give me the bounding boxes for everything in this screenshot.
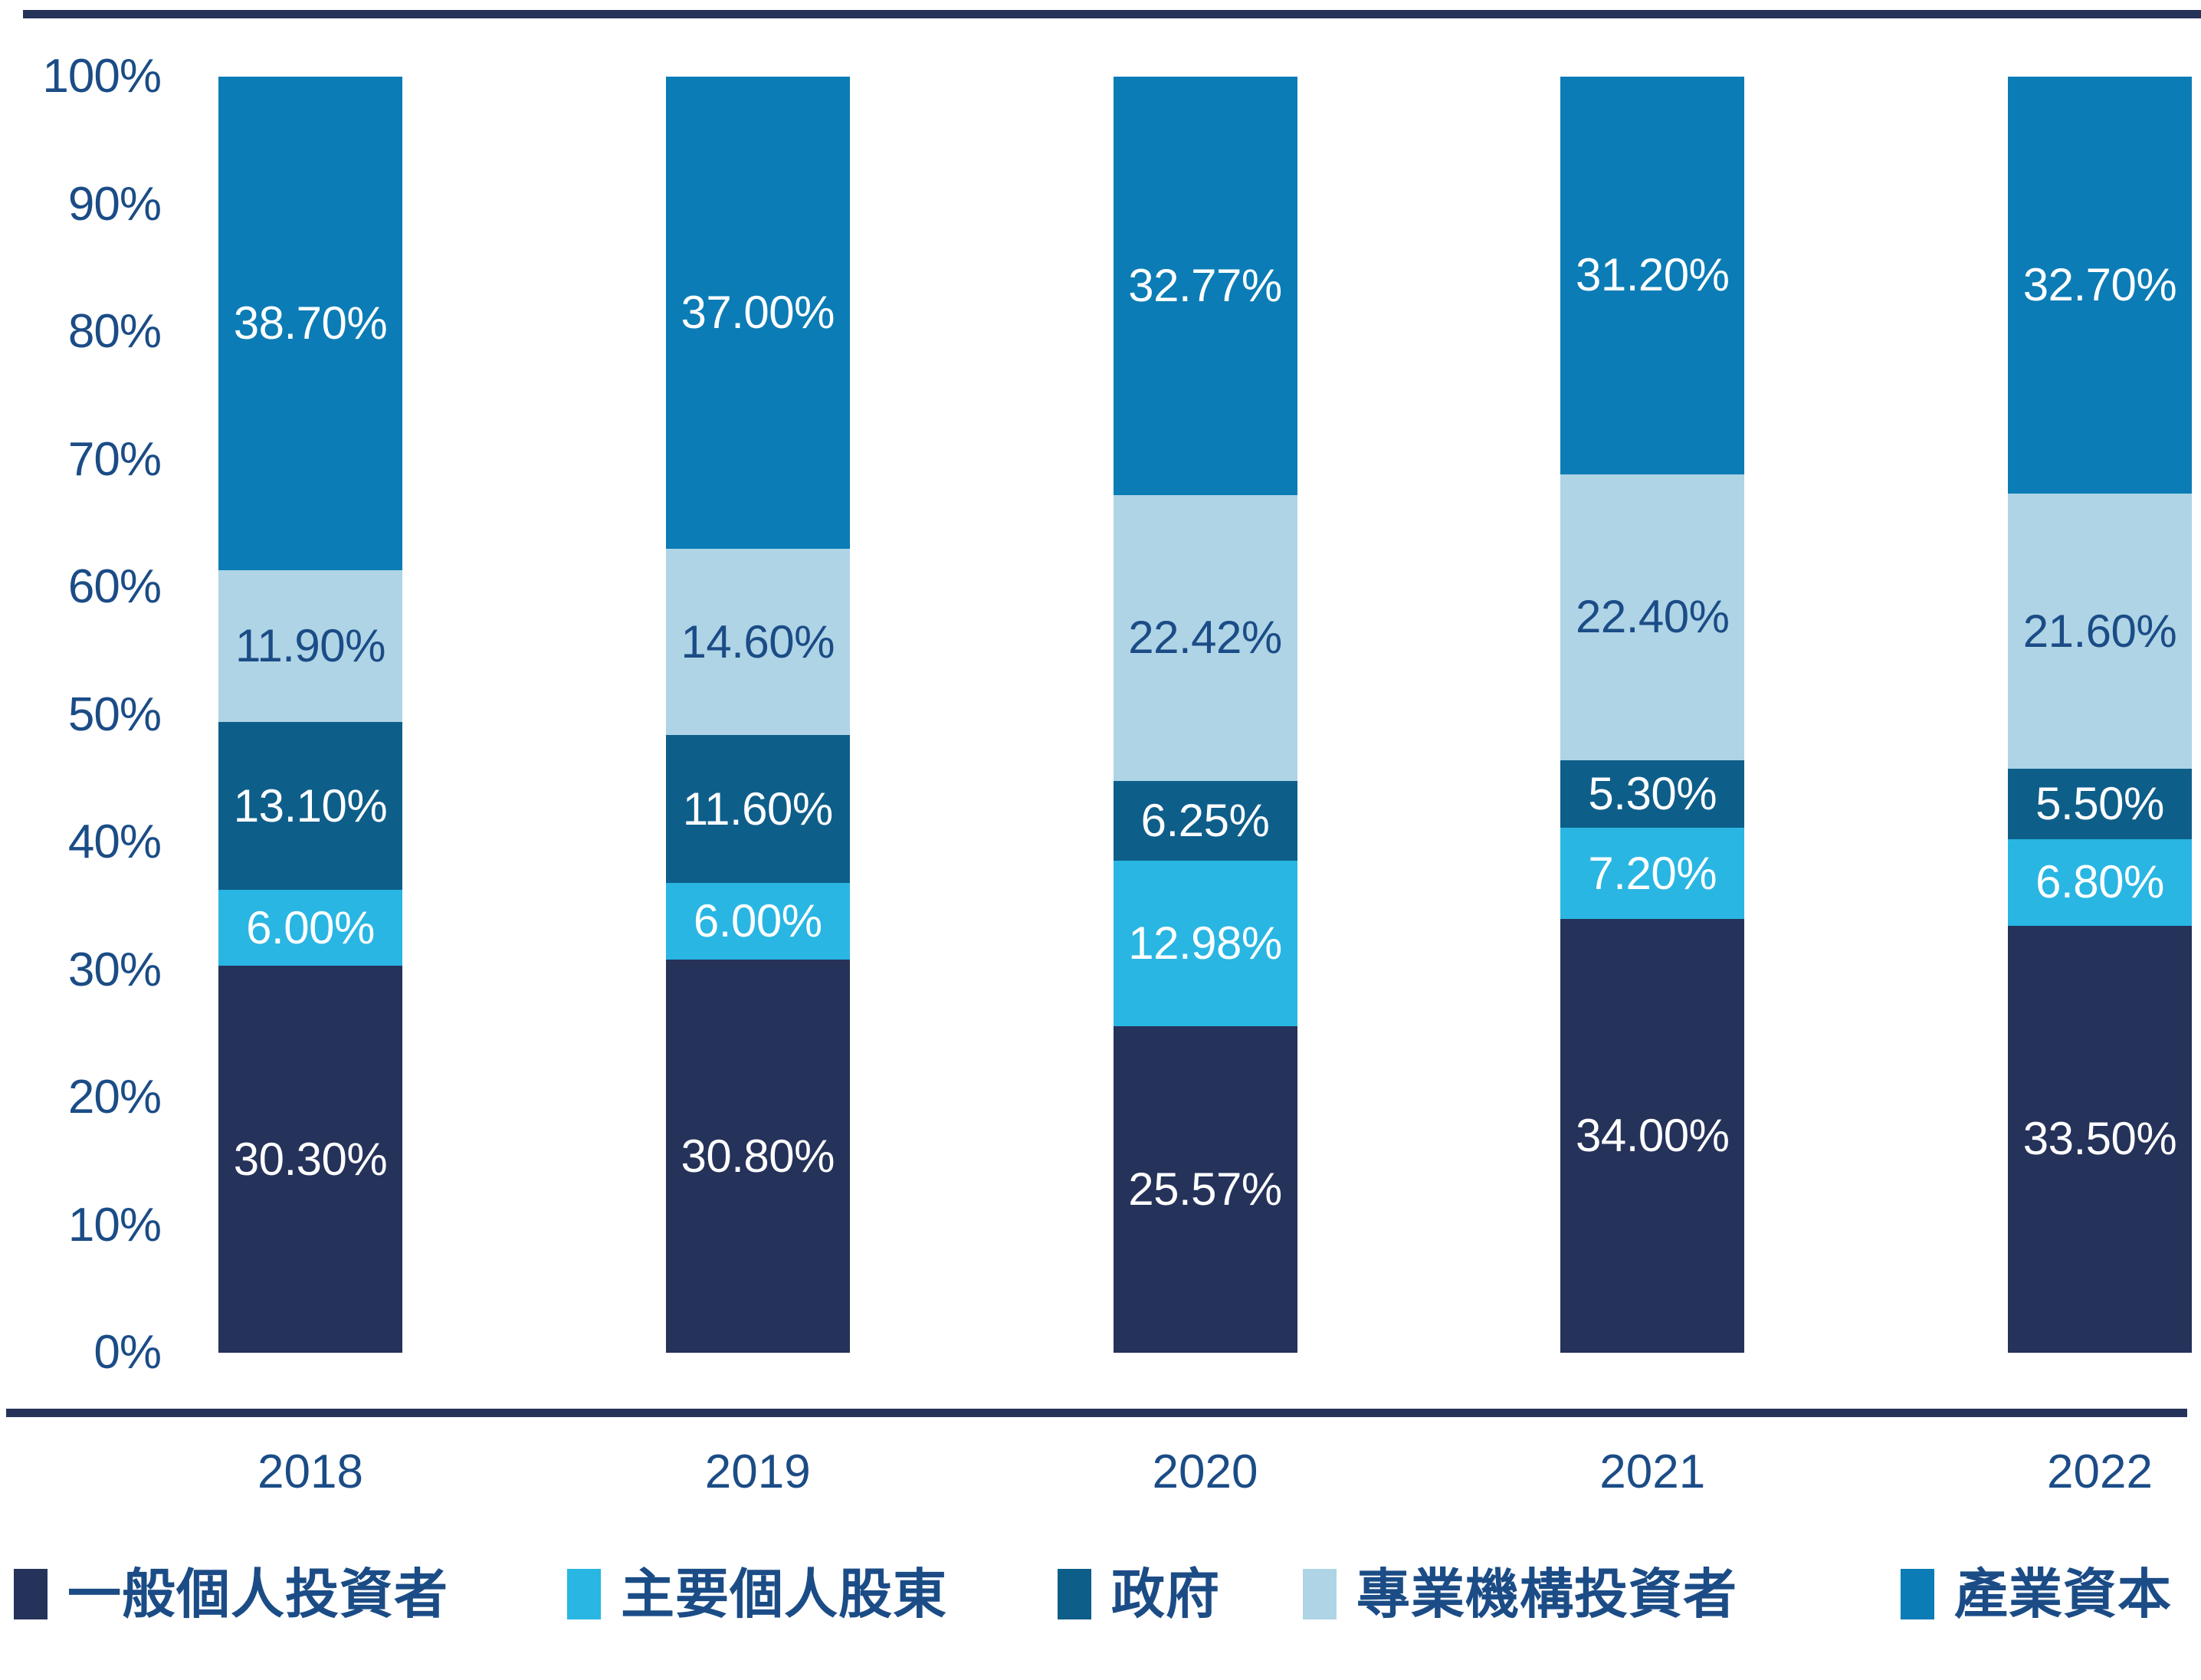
bar-segment[interactable]: 11.60%: [666, 735, 850, 883]
bar-segment-value-label: 31.20%: [1576, 252, 1730, 298]
legend-swatch-icon: [1058, 1569, 1091, 1619]
bar-segment[interactable]: 34.00%: [1560, 919, 1744, 1353]
y-axis-tick-label: 60%: [0, 563, 161, 611]
bar-segment-value-label: 11.60%: [683, 786, 833, 832]
legend-item[interactable]: 一般個人投資者: [14, 1557, 448, 1631]
bar-segment[interactable]: 7.20%: [1560, 828, 1744, 920]
bar-segment-value-label: 32.70%: [2023, 262, 2177, 308]
y-axis-tick-label: 90%: [0, 181, 161, 228]
bar-segment[interactable]: 14.60%: [666, 549, 850, 735]
x-axis-tick-label-2020: 2020: [1114, 1447, 1297, 1498]
legend-swatch-icon: [567, 1569, 601, 1619]
x-axis-tick-label-2018: 2018: [218, 1447, 402, 1498]
bar-segment-value-label: 7.20%: [1588, 851, 1717, 897]
bar-segment[interactable]: 6.80%: [2008, 839, 2192, 926]
bar-segment-value-label: 6.25%: [1141, 798, 1270, 844]
legend-label: 產業資本: [1954, 1564, 2172, 1624]
bar-segment[interactable]: 32.70%: [2008, 77, 2192, 494]
legend-label: 一般個人投資者: [67, 1564, 448, 1624]
bar-segment-value-label: 6.80%: [2035, 859, 2164, 905]
x-axis-tick-label-2019: 2019: [666, 1447, 850, 1498]
legend-item[interactable]: 主要個人股東: [567, 1557, 947, 1631]
bar-segment[interactable]: 21.60%: [2008, 494, 2192, 769]
legend-swatch-icon: [1303, 1569, 1337, 1619]
bar-2021[interactable]: 31.20%22.40%5.30%7.20%34.00%: [1560, 77, 1744, 1353]
bar-segment[interactable]: 13.10%: [218, 722, 402, 889]
bar-segment-value-label: 25.57%: [1128, 1166, 1282, 1212]
bar-segment[interactable]: 25.57%: [1114, 1026, 1297, 1353]
bar-segment[interactable]: 38.70%: [218, 77, 402, 570]
y-axis-tick-label: 70%: [0, 436, 161, 484]
bar-segment[interactable]: 22.40%: [1560, 474, 1744, 760]
bar-segment[interactable]: 33.50%: [2008, 926, 2192, 1353]
y-axis-tick-label: 50%: [0, 691, 161, 739]
bar-segment-value-label: 6.00%: [694, 898, 822, 944]
bar-segment-value-label: 38.70%: [234, 300, 388, 346]
y-axis-tick-label: 40%: [0, 819, 161, 866]
y-axis-tick-label: 30%: [0, 947, 161, 994]
legend-swatch-icon: [1901, 1569, 1934, 1619]
y-axis-tick-label: 20%: [0, 1074, 161, 1121]
legend-item[interactable]: 專業機構投資者: [1303, 1557, 1737, 1631]
x-axis-tick-label-2021: 2021: [1560, 1447, 1744, 1498]
bar-segment-value-label: 33.50%: [2023, 1116, 2177, 1162]
bar-segment-value-label: 6.00%: [246, 905, 375, 951]
y-axis-tick-label: 80%: [0, 308, 161, 356]
y-axis-tick-label: 0%: [0, 1329, 161, 1376]
bar-segment[interactable]: 37.00%: [666, 77, 850, 549]
legend-item[interactable]: 產業資本: [1901, 1557, 2172, 1631]
legend-label: 專業機構投資者: [1356, 1564, 1737, 1624]
bar-segment[interactable]: 6.25%: [1114, 781, 1297, 861]
bar-segment-value-label: 13.10%: [234, 783, 388, 829]
bar-segment-value-label: 11.90%: [235, 623, 385, 669]
bar-segment-value-label: 32.77%: [1128, 263, 1282, 309]
x-axis-tick-label-2022: 2022: [2008, 1447, 2192, 1498]
bar-segment-value-label: 30.30%: [234, 1137, 388, 1183]
bar-segment-value-label: 5.50%: [2035, 781, 2164, 827]
y-axis-tick-label: 10%: [0, 1202, 161, 1249]
bar-segment-value-label: 37.00%: [681, 290, 835, 336]
bar-segment[interactable]: 6.00%: [666, 883, 850, 960]
bar-segment-value-label: 30.80%: [681, 1134, 835, 1180]
legend-item[interactable]: 政府: [1058, 1557, 1220, 1631]
bar-2018[interactable]: 38.70%11.90%13.10%6.00%30.30%: [218, 77, 402, 1353]
legend-swatch-icon: [14, 1569, 48, 1619]
bar-segment-value-label: 21.60%: [2023, 609, 2177, 655]
bar-segment[interactable]: 6.00%: [218, 890, 402, 966]
stacked-bar-chart: 100%90%80%70%60%50%40%30%20%10%0%38.70%1…: [0, 0, 2201, 1380]
bar-segment-value-label: 14.60%: [681, 619, 835, 665]
chart-legend: 一般個人投資者主要個人股東政府專業機構投資者產業資本: [0, 1557, 2201, 1642]
bar-segment-value-label: 22.42%: [1128, 615, 1282, 661]
bar-segment-value-label: 12.98%: [1128, 920, 1282, 966]
bar-segment[interactable]: 30.80%: [666, 960, 850, 1353]
bar-segment[interactable]: 5.50%: [2008, 769, 2192, 838]
y-axis-tick-label: 100%: [0, 53, 161, 100]
bar-2020[interactable]: 32.77%22.42%6.25%12.98%25.57%: [1114, 77, 1297, 1353]
bar-segment[interactable]: 12.98%: [1114, 861, 1297, 1026]
bar-segment[interactable]: 22.42%: [1114, 495, 1297, 781]
bar-segment-value-label: 22.40%: [1576, 594, 1730, 640]
bar-segment[interactable]: 5.30%: [1560, 760, 1744, 828]
bar-segment[interactable]: 31.20%: [1560, 77, 1744, 474]
bar-segment-value-label: 34.00%: [1576, 1113, 1730, 1159]
bottom-divider-rule: [6, 1409, 2187, 1417]
bar-2019[interactable]: 37.00%14.60%11.60%6.00%30.80%: [666, 77, 850, 1353]
bar-segment[interactable]: 11.90%: [218, 570, 402, 722]
legend-label: 主要個人股東: [621, 1564, 947, 1624]
bar-segment-value-label: 5.30%: [1588, 771, 1717, 817]
bar-2022[interactable]: 32.70%21.60%5.50%6.80%33.50%: [2008, 77, 2192, 1353]
bar-segment[interactable]: 30.30%: [218, 966, 402, 1352]
legend-label: 政府: [1111, 1564, 1220, 1624]
bar-segment[interactable]: 32.77%: [1114, 77, 1297, 495]
